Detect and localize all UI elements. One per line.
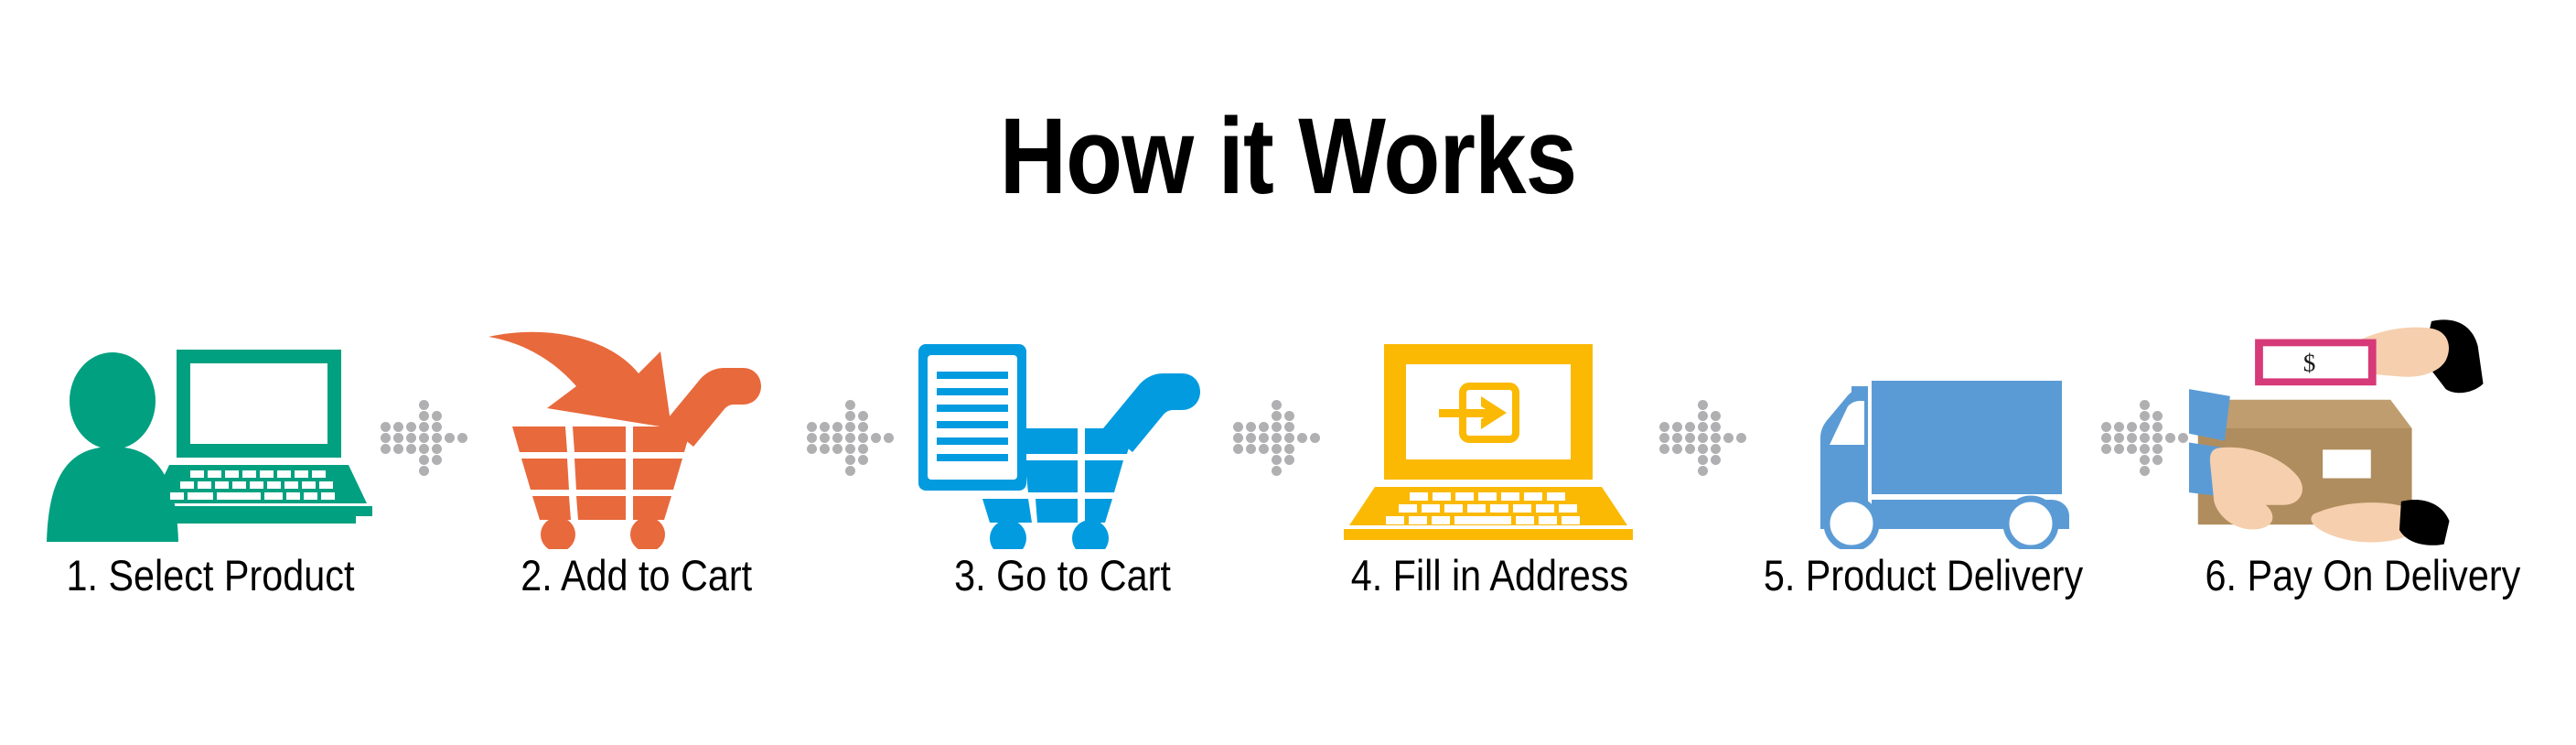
page-title: How it Works bbox=[180, 103, 2396, 211]
arrow-4-to-5 bbox=[1663, 302, 1742, 632]
step-5-label: 5. Product Delivery bbox=[1764, 553, 2083, 598]
banknote-dollar-symbol: $ bbox=[2303, 350, 2316, 377]
dotted-arrow-icon bbox=[2099, 399, 2189, 476]
delivery-truck-icon bbox=[1750, 302, 2098, 549]
arrow-1-to-2 bbox=[384, 302, 463, 632]
hands-exchanging-box-and-cash-icon: $ bbox=[2189, 302, 2537, 549]
step-1-select-product[interactable]: 1. Select Product bbox=[37, 302, 384, 632]
step-4-label: 4. Fill in Address bbox=[1350, 553, 1627, 598]
dotted-arrow-icon bbox=[379, 399, 468, 476]
arrow-into-shopping-cart-icon bbox=[463, 302, 810, 549]
step-2-add-to-cart[interactable]: 2. Add to Cart bbox=[463, 302, 810, 632]
step-3-go-to-cart[interactable]: 3. Go to Cart bbox=[889, 302, 1237, 632]
arrow-5-to-6 bbox=[2105, 302, 2184, 632]
arrow-2-to-3 bbox=[810, 302, 889, 632]
steps-row: 1. Select Product bbox=[37, 302, 2539, 632]
dotted-arrow-icon bbox=[805, 399, 895, 476]
step-5-product-delivery[interactable]: 5. Product Delivery bbox=[1742, 302, 2105, 632]
step-2-label: 2. Add to Cart bbox=[521, 553, 753, 598]
laptop-with-login-arrow-icon bbox=[1315, 302, 1663, 549]
document-with-shopping-cart-icon bbox=[889, 302, 1237, 549]
step-6-pay-on-delivery[interactable]: $ bbox=[2184, 302, 2542, 632]
step-6-label: 6. Pay On Delivery bbox=[2206, 553, 2521, 598]
infographic-canvas: How it Works bbox=[0, 0, 2576, 745]
step-3-label: 3. Go to Cart bbox=[955, 553, 1172, 598]
person-at-laptop-icon bbox=[37, 302, 384, 549]
step-4-fill-in-address[interactable]: 4. Fill in Address bbox=[1315, 302, 1663, 632]
dotted-arrow-icon bbox=[1658, 399, 1747, 476]
dotted-arrow-icon bbox=[1231, 399, 1321, 476]
step-1-label: 1. Select Product bbox=[67, 553, 355, 598]
arrow-3-to-4 bbox=[1237, 302, 1315, 632]
